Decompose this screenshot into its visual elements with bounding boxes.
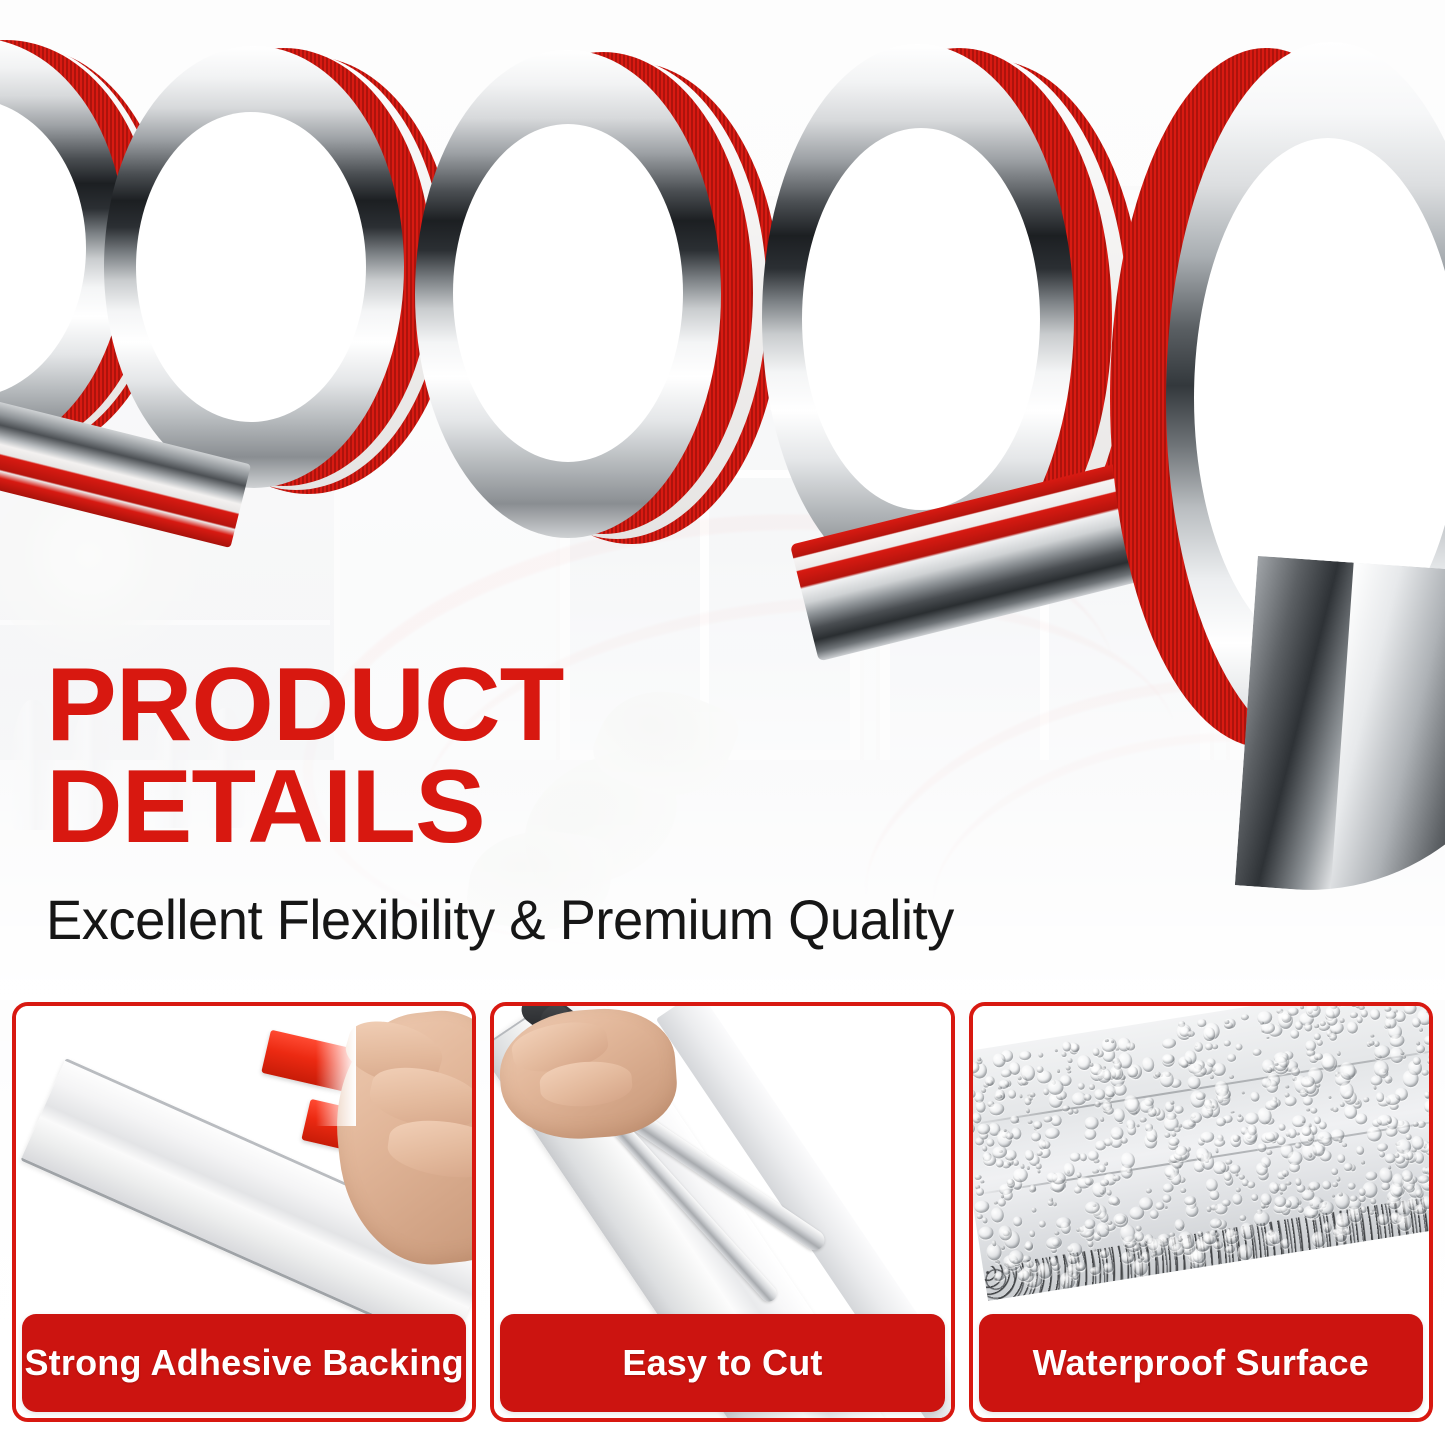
water-droplet — [1396, 1119, 1411, 1135]
water-droplet — [996, 1198, 1006, 1208]
water-droplet — [1300, 1006, 1304, 1010]
water-droplet — [1173, 1126, 1181, 1133]
water-droplet — [1281, 1169, 1289, 1177]
water-droplet — [1297, 1207, 1304, 1214]
water-droplet — [1419, 1028, 1423, 1033]
water-droplet — [1077, 1082, 1085, 1091]
water-droplet — [1031, 1207, 1036, 1213]
water-droplet — [1336, 1051, 1341, 1057]
water-droplet — [1196, 1231, 1203, 1237]
water-droplet — [991, 1052, 1007, 1069]
water-droplet — [1251, 1048, 1261, 1057]
water-droplet — [986, 1138, 995, 1147]
water-droplet — [1024, 1097, 1032, 1106]
water-droplet — [1043, 1126, 1060, 1139]
water-droplet — [1369, 1074, 1383, 1086]
water-droplet — [1234, 1172, 1238, 1177]
water-droplet — [982, 1217, 987, 1223]
water-droplet — [1260, 1204, 1265, 1209]
water-droplet — [1385, 1126, 1398, 1138]
water-droplet — [1072, 1272, 1079, 1280]
water-droplet — [1328, 1095, 1332, 1099]
water-droplet — [1289, 1029, 1299, 1039]
image-fade — [316, 1006, 356, 1126]
feature-panel-easy-to-cut[interactable]: Easy to Cut — [490, 1002, 954, 1422]
water-droplet — [1147, 1107, 1157, 1117]
water-droplet — [1411, 1017, 1422, 1028]
water-droplet — [990, 1206, 1005, 1223]
water-droplet — [1110, 1197, 1120, 1206]
water-droplet — [1332, 1106, 1339, 1112]
water-droplet — [1365, 1171, 1378, 1182]
water-droplet — [977, 1225, 994, 1240]
water-droplet — [1000, 1068, 1012, 1078]
water-droplet — [1356, 1146, 1365, 1156]
coil-ring — [405, 52, 785, 552]
water-droplet — [1093, 1158, 1099, 1164]
water-droplet — [1278, 1123, 1286, 1131]
water-droplet — [1321, 1180, 1331, 1190]
water-droplet — [1424, 1091, 1429, 1099]
water-droplet — [1018, 1050, 1031, 1061]
water-droplet — [1369, 1008, 1380, 1020]
water-droplet — [1342, 1143, 1347, 1148]
water-droplet — [1365, 1125, 1382, 1142]
water-droplet — [1060, 1052, 1067, 1058]
feature-panel-strong-adhesive-backing[interactable]: Strong Adhesive Backing — [12, 1002, 476, 1422]
feature-panel-row: Strong Adhesive Backing Easy to Cut — [0, 1002, 1445, 1422]
water-droplet — [1229, 1074, 1235, 1079]
water-droplet — [1251, 1193, 1259, 1201]
water-droplet — [1260, 1021, 1264, 1025]
water-droplet — [1036, 1169, 1040, 1174]
water-droplet — [1209, 1075, 1213, 1079]
water-droplet — [1037, 1052, 1043, 1058]
water-droplet — [1240, 1013, 1249, 1021]
water-droplet — [1164, 1206, 1168, 1209]
water-droplet — [1231, 1193, 1242, 1205]
water-droplet — [1336, 1153, 1346, 1163]
water-droplet — [1091, 1048, 1099, 1057]
water-droplet — [1288, 1162, 1300, 1173]
water-droplet — [1283, 1095, 1296, 1106]
water-droplet — [1360, 1160, 1365, 1164]
water-droplet — [1375, 1091, 1385, 1102]
water-droplet — [1373, 1086, 1377, 1090]
water-droplet — [1307, 1152, 1312, 1158]
water-droplet — [1073, 1109, 1079, 1115]
water-droplet — [1193, 1041, 1203, 1052]
water-droplet — [1179, 1059, 1188, 1069]
water-droplet — [1011, 1216, 1022, 1227]
water-droplet — [1094, 1101, 1101, 1108]
feature-caption: Easy to Cut — [500, 1314, 944, 1412]
water-droplet — [1331, 1194, 1334, 1198]
water-droplet — [1027, 1119, 1033, 1124]
water-droplet — [1301, 1096, 1313, 1106]
water-droplet — [1421, 1069, 1429, 1076]
water-droplet — [1087, 1240, 1094, 1247]
water-droplet — [1092, 1248, 1096, 1252]
water-droplet — [1083, 1128, 1097, 1141]
water-droplet — [1099, 1117, 1104, 1122]
water-droplet — [1285, 1085, 1289, 1088]
water-droplet — [1173, 1105, 1184, 1114]
water-droplet — [1213, 1138, 1225, 1148]
water-droplet — [1025, 1108, 1030, 1113]
water-droplet — [1186, 1030, 1194, 1037]
water-droplet — [1214, 1202, 1229, 1215]
water-droplet — [1148, 1209, 1159, 1220]
water-droplet — [1249, 1091, 1259, 1102]
water-droplet — [1223, 1171, 1232, 1181]
water-droplet — [1005, 1132, 1014, 1139]
water-droplet — [1246, 1181, 1255, 1189]
water-droplet — [975, 1188, 984, 1197]
water-droplet — [1029, 1230, 1036, 1238]
water-droplet — [1212, 1062, 1226, 1077]
water-droplet — [1152, 1252, 1156, 1257]
water-droplet — [1266, 1149, 1273, 1156]
water-droplet — [1167, 1137, 1179, 1147]
trim-strip-wet — [973, 1006, 1429, 1301]
water-droplet — [1319, 1020, 1325, 1026]
water-droplet — [1035, 1163, 1042, 1169]
water-droplet — [1174, 1218, 1186, 1231]
water-droplet — [1264, 1099, 1279, 1111]
water-droplet — [1265, 1067, 1272, 1074]
water-droplet — [977, 1057, 981, 1061]
water-droplet — [1019, 1094, 1023, 1099]
water-droplets — [973, 1006, 1429, 1054]
water-droplet — [1328, 1032, 1337, 1042]
page-title: PRODUCT DETAILS — [46, 655, 1188, 859]
water-droplet — [1423, 1167, 1429, 1175]
water-droplet — [1000, 1194, 1004, 1198]
water-droplet — [1169, 1171, 1181, 1185]
water-droplet — [1105, 1189, 1112, 1196]
water-droplet — [1241, 1091, 1245, 1095]
water-droplet — [1377, 1167, 1393, 1184]
water-droplet — [1339, 1102, 1345, 1108]
water-droplet — [1294, 1177, 1302, 1186]
water-droplet — [1316, 1039, 1323, 1046]
water-droplet — [1412, 1056, 1420, 1065]
water-droplet — [982, 1145, 988, 1151]
water-droplet — [1241, 1131, 1257, 1147]
water-droplet — [1017, 1076, 1021, 1080]
water-droplet — [1137, 1258, 1142, 1263]
water-droplet — [1303, 1022, 1312, 1032]
water-droplet — [1426, 1059, 1429, 1064]
water-droplet — [980, 1180, 984, 1184]
feature-caption: Strong Adhesive Backing — [22, 1314, 466, 1412]
water-droplet — [1026, 1166, 1030, 1170]
water-droplet — [1163, 1132, 1170, 1139]
water-droplet — [1119, 1164, 1133, 1179]
water-droplet — [1055, 1049, 1059, 1053]
water-droplet — [1278, 1183, 1287, 1192]
page-subtitle: Excellent Flexibility & Premium Quality — [46, 887, 1132, 952]
water-droplet — [1238, 1215, 1245, 1222]
water-droplet — [1370, 1198, 1376, 1205]
water-droplet — [1088, 1084, 1095, 1090]
water-droplet — [1226, 1053, 1237, 1063]
water-droplet — [1380, 1182, 1390, 1191]
water-droplet — [1309, 1107, 1317, 1114]
water-droplet — [1338, 1192, 1343, 1196]
water-droplet — [1387, 1165, 1391, 1170]
water-droplet — [1332, 1182, 1338, 1188]
water-droplet — [1083, 1218, 1096, 1230]
water-droplet — [1265, 1036, 1269, 1039]
water-droplet — [984, 1075, 995, 1086]
water-droplet — [1180, 1187, 1187, 1193]
water-droplet — [974, 1136, 984, 1145]
water-droplet — [1139, 1117, 1146, 1123]
water-droplet — [1405, 1134, 1411, 1141]
water-droplet — [1036, 1151, 1043, 1156]
water-droplet — [1314, 1024, 1319, 1029]
water-droplet — [1029, 1186, 1037, 1193]
water-droplet — [1155, 1201, 1165, 1210]
water-droplet — [1038, 1220, 1046, 1228]
water-droplet — [1140, 1056, 1155, 1073]
water-droplet — [994, 1202, 998, 1205]
water-droplet — [1383, 1075, 1393, 1085]
water-droplet — [1072, 1186, 1081, 1195]
water-droplet — [1056, 1069, 1060, 1073]
water-droplet — [1111, 1175, 1120, 1182]
water-droplet — [1170, 1100, 1174, 1104]
water-droplet — [1146, 1188, 1152, 1194]
water-droplet — [1347, 1182, 1356, 1191]
water-droplet — [1212, 1044, 1219, 1050]
water-droplet — [1371, 1208, 1375, 1212]
water-droplet — [1099, 1189, 1104, 1195]
water-droplet — [1032, 1120, 1042, 1129]
feature-caption: Waterproof Surface — [979, 1314, 1423, 1412]
water-droplet — [1330, 1168, 1338, 1176]
water-droplet — [1045, 1236, 1063, 1250]
water-droplet — [1235, 1187, 1241, 1192]
water-droplet — [1223, 1040, 1230, 1046]
water-droplet — [1205, 1206, 1211, 1213]
water-droplet — [1230, 1111, 1234, 1114]
water-droplet — [1400, 1052, 1404, 1055]
water-droplet — [1079, 1153, 1087, 1162]
water-droplet — [1161, 1037, 1177, 1050]
water-droplet — [974, 1174, 982, 1180]
water-droplet — [1214, 1148, 1219, 1153]
water-droplet — [1029, 1092, 1036, 1098]
title-block: PRODUCT DETAILS Excellent Flexibility & … — [46, 655, 1166, 952]
water-droplet — [1101, 1037, 1117, 1052]
water-droplet — [1125, 1042, 1136, 1051]
water-droplet — [1235, 1043, 1243, 1051]
water-droplet — [1007, 1089, 1017, 1099]
water-droplet — [1067, 1058, 1073, 1063]
water-droplet — [1339, 1018, 1345, 1023]
water-droplet — [1335, 1176, 1341, 1182]
water-droplet — [1363, 1097, 1369, 1103]
water-droplet — [1001, 1246, 1006, 1251]
water-droplet — [1208, 1189, 1219, 1200]
water-droplet — [1286, 1127, 1297, 1138]
water-droplet — [1337, 1138, 1342, 1143]
water-droplet — [1059, 1221, 1071, 1234]
water-droplet — [1279, 1191, 1283, 1195]
water-droplet — [1054, 1231, 1059, 1235]
water-droplet — [1215, 1116, 1227, 1127]
water-droplet — [973, 1200, 989, 1214]
water-droplet — [996, 1261, 1000, 1264]
water-droplet — [1211, 1105, 1215, 1108]
water-droplet — [1136, 1124, 1140, 1127]
water-droplet — [1393, 1153, 1399, 1159]
water-droplet — [1024, 1240, 1034, 1252]
feature-panel-waterproof-surface[interactable]: Waterproof Surface — [969, 1002, 1433, 1422]
product-detail-image: PRODUCT DETAILS Excellent Flexibility & … — [0, 0, 1445, 1445]
water-droplet — [1181, 1118, 1196, 1131]
water-droplet — [1423, 1034, 1429, 1045]
water-droplet — [1310, 1215, 1314, 1219]
water-droplet — [1370, 1034, 1374, 1038]
